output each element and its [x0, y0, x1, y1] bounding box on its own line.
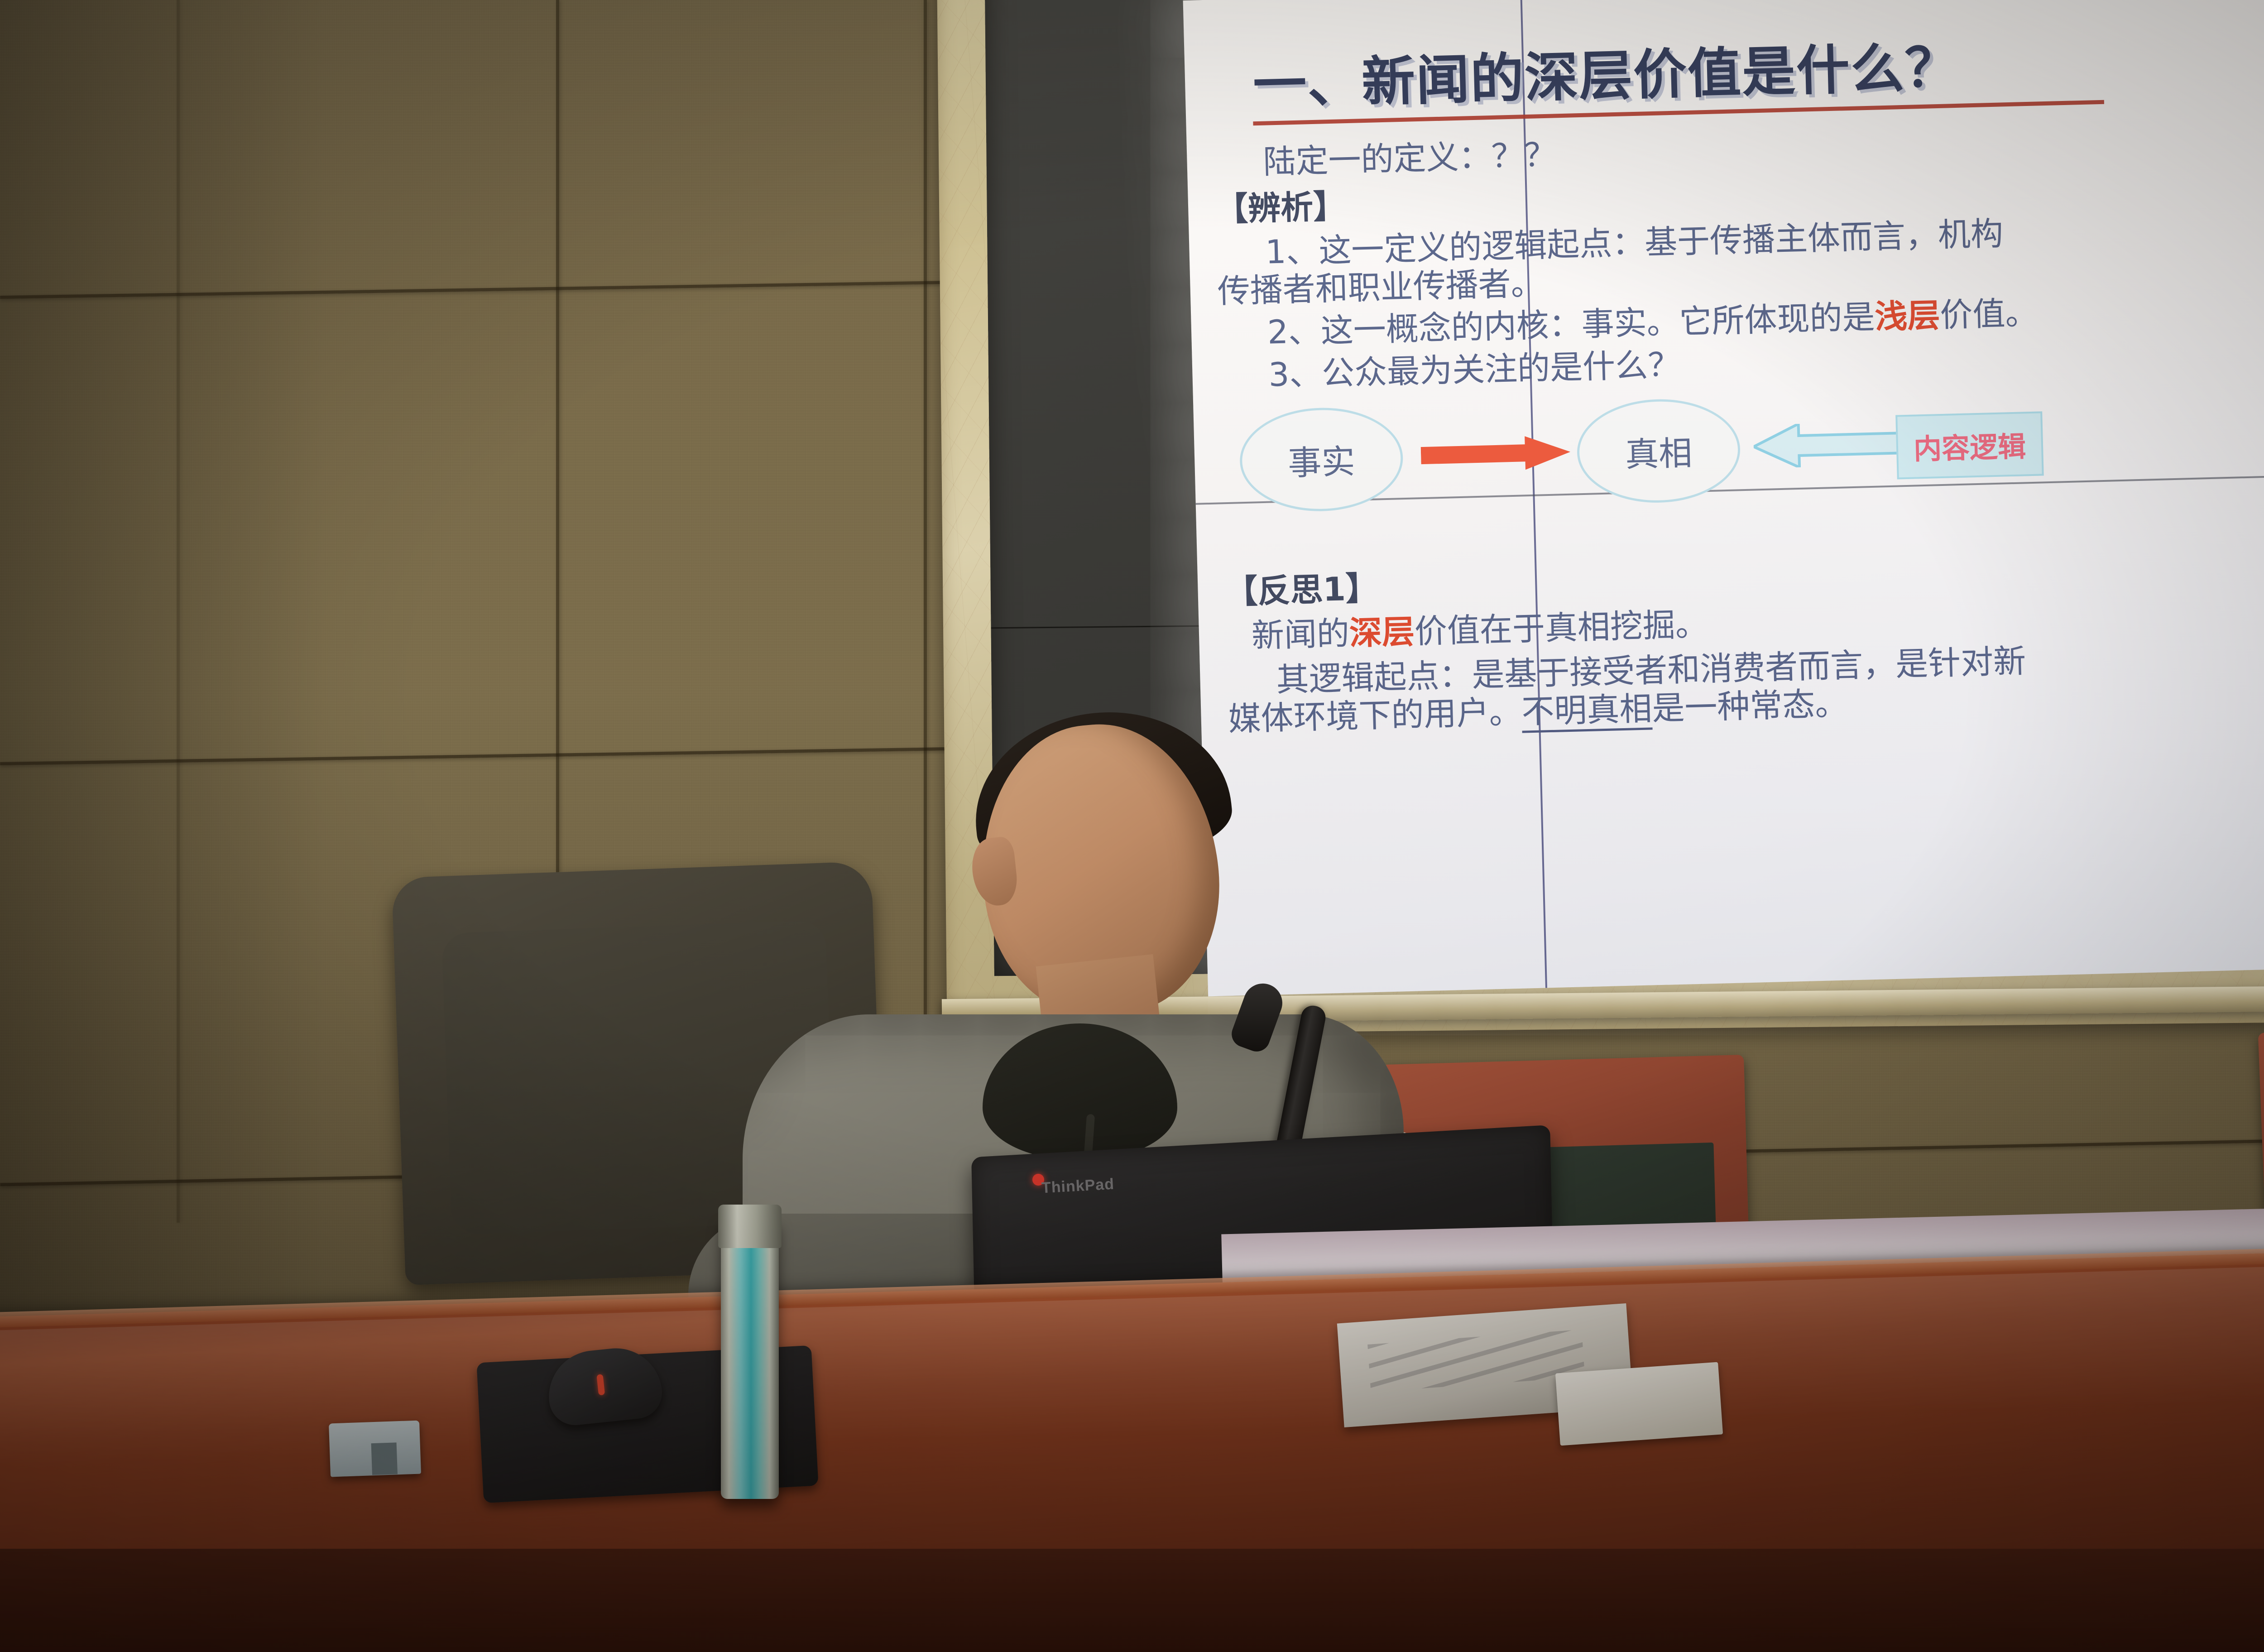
slide-diagram: 事实 真相 内容逻辑 [1238, 384, 2264, 523]
slide-point-2-suffix: 价值。 [1939, 294, 2038, 334]
diagram-node-fact: 事实 [1238, 406, 1404, 513]
closing-line-2-underlined: 不明真相 [1521, 689, 1652, 733]
reflection-prefix: 新闻的 [1251, 614, 1350, 654]
wall-seam-vertical [177, 0, 180, 1223]
notepad-on-desk[interactable] [1555, 1362, 1723, 1446]
diagram-callout-label: 内容逻辑 [1913, 430, 2026, 466]
slide-point-2-emphasis: 浅层 [1874, 296, 1940, 336]
thermos-flask[interactable] [721, 1218, 779, 1499]
slide-title: 一、新闻的深层价值是什么？ [1252, 16, 2262, 119]
desk-nameplate [329, 1421, 421, 1477]
back-arrow-icon [1753, 421, 1904, 468]
lecture-room-photo: 一、新闻的深层价值是什么？ 陆定一的定义：？？ 【辨析】 1、这一定义的逻辑起点… [0, 0, 2264, 1652]
forward-arrow-icon [1420, 435, 1571, 472]
diagram-callout-content-logic: 内容逻辑 [1895, 411, 2044, 479]
reflection-suffix: 价值在于真相挖掘。 [1414, 605, 1708, 650]
thermos-cap[interactable] [718, 1205, 782, 1248]
closing-line-2-b: 是一种常态。 [1651, 684, 1848, 727]
desk-foreground-shadow [0, 1549, 2264, 1652]
reflection-emphasis: 深层 [1349, 612, 1415, 652]
presenter-ear [969, 836, 1019, 908]
diagram-node-truth: 真相 [1576, 397, 1741, 504]
